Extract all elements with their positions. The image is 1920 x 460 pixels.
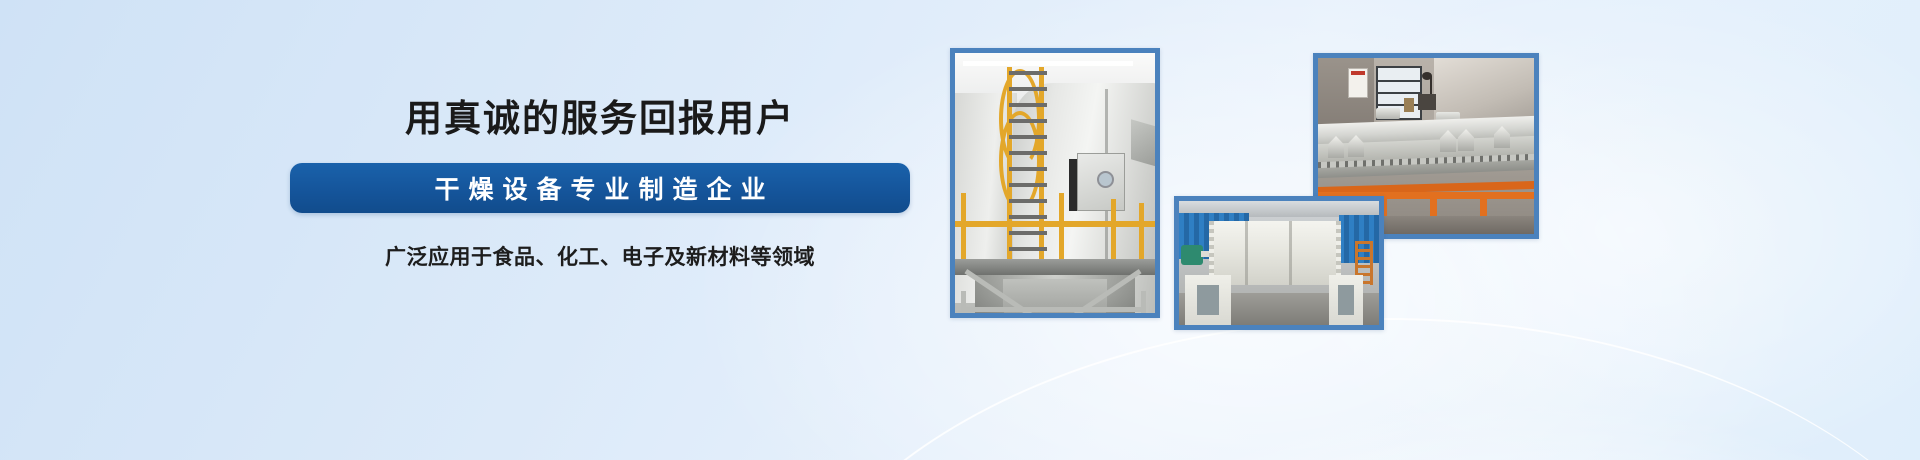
- banner-badge: 干燥设备专业制造企业: [290, 163, 910, 213]
- banner-badge-label: 干燥设备专业制造企业: [425, 170, 774, 206]
- photo-1-content: [955, 53, 1155, 313]
- photo-2-content: [1179, 201, 1379, 325]
- hero-banner: 用真诚的服务回报用户 干燥设备专业制造企业 广泛应用于食品、化工、电子及新材料等…: [0, 0, 1920, 460]
- banner-subline: 广泛应用于食品、化工、电子及新材料等领域: [290, 241, 910, 271]
- banner-headline: 用真诚的服务回报用户: [290, 100, 910, 137]
- photo-spray-dryer-tower: [950, 48, 1160, 318]
- banner-copy-block: 用真诚的服务回报用户 干燥设备专业制造企业 广泛应用于食品、化工、电子及新材料等…: [290, 100, 910, 271]
- background-swoosh-arc: [760, 318, 1920, 460]
- photo-ribbon-mixer: [1174, 196, 1384, 330]
